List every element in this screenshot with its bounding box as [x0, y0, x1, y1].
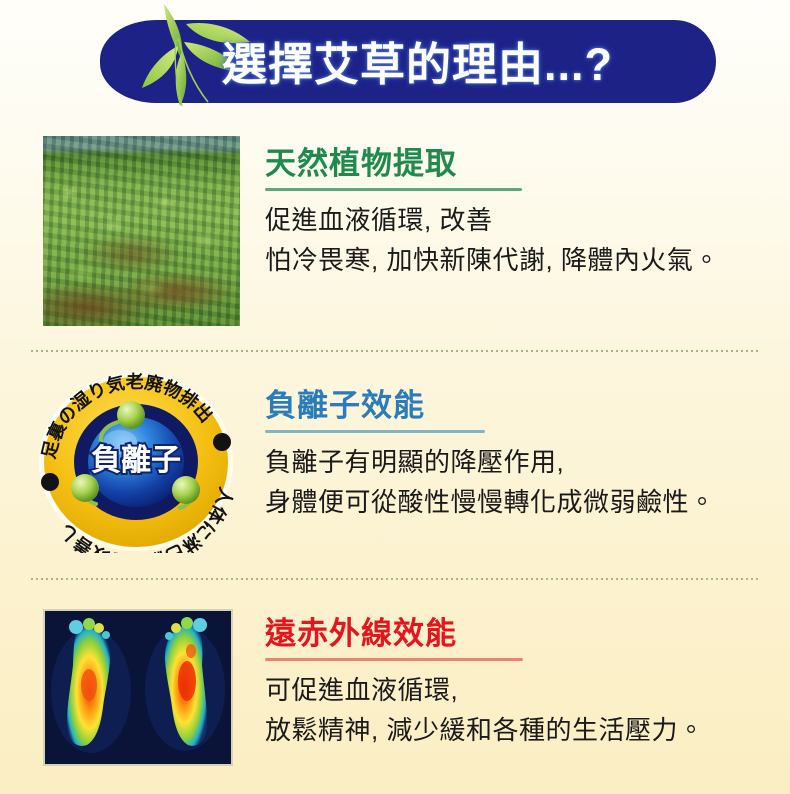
section-3-body: 可促進血液循環, 放鬆精神, 減少緩和各種的生活壓力。	[265, 672, 780, 750]
section-1-line-1: 促進血液循環, 改善	[265, 202, 780, 240]
thermal-footprint-image	[43, 609, 233, 766]
section-negative-ion-effect: 足裏の湿り気老廃物排出 人体に淋巴循環を改善し 負離子 負離子效能 負離子有明顯…	[0, 358, 790, 570]
mugwort-field-photo	[43, 136, 240, 326]
section-1-body: 促進血液循環, 改善 怕冷畏寒, 加快新陳代謝, 降體內火氣。	[265, 202, 780, 280]
section-1-copy: 天然植物提取 促進血液循環, 改善 怕冷畏寒, 加快新陳代謝, 降體內火氣。	[265, 146, 780, 280]
section-2-body: 負離子有明顯的降壓作用, 身體便可從酸性慢慢轉化成微弱鹼性。	[265, 444, 780, 522]
section-divider	[31, 350, 760, 352]
section-1-line-2: 怕冷畏寒, 加快新陳代謝, 降體內火氣。	[265, 242, 780, 280]
negative-ion-badge: 足裏の湿り気老廃物排出 人体に淋巴循環を改善し 負離子	[36, 370, 236, 553]
section-2-line-1: 負離子有明顯的降壓作用,	[265, 444, 780, 482]
section-natural-plant-extract: 天然植物提取 促進血液循環, 改善 怕冷畏寒, 加快新陳代謝, 降體內火氣。	[0, 112, 790, 340]
section-divider	[31, 578, 760, 580]
section-1-rule	[265, 188, 522, 191]
badge-center-label: 負離子	[91, 443, 181, 478]
section-3-line-1: 可促進血液循環,	[265, 672, 780, 710]
section-2-copy: 負離子效能 負離子有明顯的降壓作用, 身體便可從酸性慢慢轉化成微弱鹼性。	[265, 388, 780, 522]
section-3-heading: 遠赤外線效能	[265, 616, 780, 652]
section-1-heading: 天然植物提取	[265, 146, 780, 182]
header-banner: 選擇艾草的理由...?	[100, 20, 716, 103]
section-2-heading: 負離子效能	[265, 388, 780, 424]
section-3-line-2: 放鬆精神, 減少緩和各種的生活壓力。	[265, 712, 780, 750]
section-3-copy: 遠赤外線效能 可促進血液循環, 放鬆精神, 減少緩和各種的生活壓力。	[265, 616, 780, 750]
section-2-line-2: 身體便可從酸性慢慢轉化成微弱鹼性。	[265, 484, 780, 522]
page-title: 選擇艾草的理由...?	[222, 28, 613, 93]
section-far-infrared-effect: 遠赤外線效能 可促進血液循環, 放鬆精神, 減少緩和各種的生活壓力。	[0, 592, 790, 782]
section-3-rule	[265, 658, 523, 661]
section-2-rule	[265, 430, 485, 433]
